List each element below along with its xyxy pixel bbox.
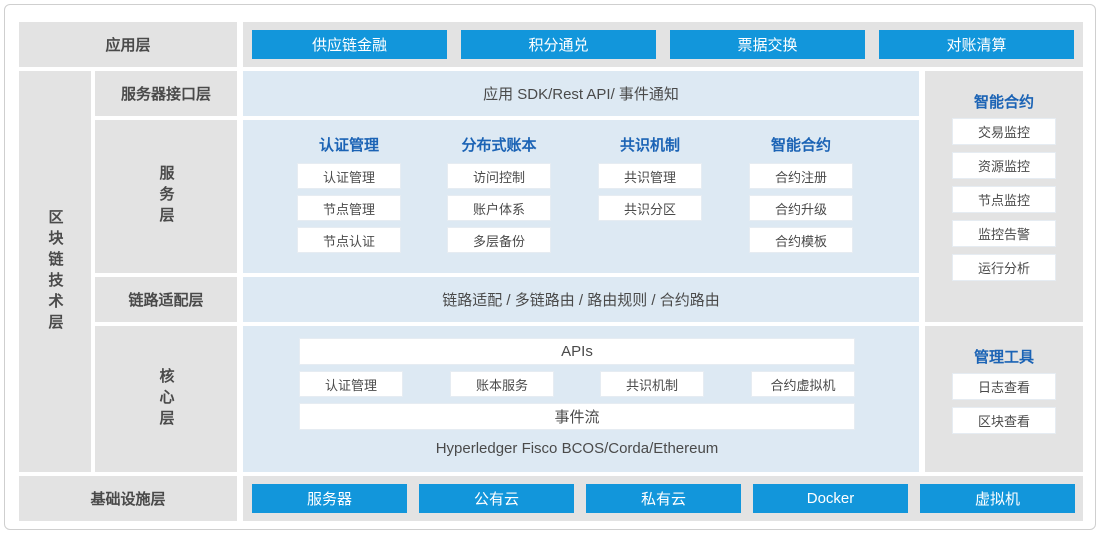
app-item-0-label: 供应链金融 xyxy=(312,34,387,55)
infra-item-3[interactable]: Docker xyxy=(753,484,908,513)
service-col-1-item-1[interactable]: 账户体系 xyxy=(447,195,551,221)
infrastructure-layer-label: 基础设施层 xyxy=(19,476,237,521)
service-col-0-title: 认证管理 xyxy=(287,134,411,155)
application-layer-band: 供应链金融 积分通兑 票据交换 对账清算 xyxy=(243,22,1083,67)
core-engines: Hyperledger Fisco BCOS/Corda/Ethereum xyxy=(299,434,855,462)
app-item-1[interactable]: 积分通兑 xyxy=(461,30,656,59)
application-layer-label-text: 应用层 xyxy=(105,34,150,55)
app-item-1-label: 积分通兑 xyxy=(528,34,588,55)
side-panel-0-item-4[interactable]: 运行分析 xyxy=(952,254,1056,281)
infra-item-4[interactable]: 虚拟机 xyxy=(920,484,1075,513)
service-col-3-item-1[interactable]: 合约升级 xyxy=(749,195,853,221)
core-layer-label: 核心层 xyxy=(95,326,237,472)
app-item-3-label: 对账清算 xyxy=(946,34,1006,55)
service-col-1-item-0[interactable]: 访问控制 xyxy=(447,163,551,189)
link-adapter-layer-content-text: 链路适配 / 多链路由 / 路由规则 / 合约路由 xyxy=(442,289,720,310)
infra-item-1[interactable]: 公有云 xyxy=(419,484,574,513)
service-col-0-item-2[interactable]: 节点认证 xyxy=(297,227,401,253)
core-module-0[interactable]: 认证管理 xyxy=(299,371,403,397)
side-panel-1-item-1[interactable]: 区块查看 xyxy=(952,407,1056,434)
side-panel-0-item-3[interactable]: 监控告警 xyxy=(952,220,1056,247)
app-item-2[interactable]: 票据交换 xyxy=(670,30,865,59)
infra-item-3-label: Docker xyxy=(807,490,855,507)
link-adapter-layer-label-text: 链路适配层 xyxy=(128,289,203,310)
core-module-3[interactable]: 合约虚拟机 xyxy=(751,371,855,397)
core-apis-label: APIs xyxy=(561,343,593,360)
service-col-2-title: 共识机制 xyxy=(588,134,712,155)
architecture-diagram: 应用层 供应链金融 积分通兑 票据交换 对账清算 区块链技术层 服务器接口层 应… xyxy=(4,4,1096,530)
infra-item-1-label: 公有云 xyxy=(474,488,519,509)
blockchain-tech-layer-label: 区块链技术层 xyxy=(19,71,91,472)
service-col-3-title: 智能合约 xyxy=(739,134,863,155)
core-layer-content: APIs 认证管理 账本服务 共识机制 合约虚拟机 事件流 Hyperledge… xyxy=(243,326,919,472)
service-col-1-item-2[interactable]: 多层备份 xyxy=(447,227,551,253)
service-col-3-item-0[interactable]: 合约注册 xyxy=(749,163,853,189)
core-engines-text: Hyperledger Fisco BCOS/Corda/Ethereum xyxy=(436,440,719,457)
blockchain-tech-layer-label-text: 区块链技术层 xyxy=(45,209,66,335)
service-col-2-item-1[interactable]: 共识分区 xyxy=(598,195,702,221)
infra-item-0-label: 服务器 xyxy=(307,488,352,509)
link-adapter-layer-label: 链路适配层 xyxy=(95,277,237,322)
infra-item-2[interactable]: 私有云 xyxy=(586,484,741,513)
core-apis-bar[interactable]: APIs xyxy=(299,338,855,365)
server-interface-layer-content: 应用 SDK/Rest API/ 事件通知 xyxy=(243,71,919,116)
side-panel-management-tools: 管理工具 日志查看 区块查看 xyxy=(925,326,1083,472)
service-col-1-title: 分布式账本 xyxy=(437,134,561,155)
app-item-3[interactable]: 对账清算 xyxy=(879,30,1074,59)
core-event-stream-bar[interactable]: 事件流 xyxy=(299,403,855,430)
side-panel-0-item-0[interactable]: 交易监控 xyxy=(952,118,1056,145)
server-interface-layer-label-text: 服务器接口层 xyxy=(121,83,211,104)
core-module-2[interactable]: 共识机制 xyxy=(600,371,704,397)
service-col-0-item-0[interactable]: 认证管理 xyxy=(297,163,401,189)
app-item-0[interactable]: 供应链金融 xyxy=(252,30,447,59)
service-col-2-item-0[interactable]: 共识管理 xyxy=(598,163,702,189)
server-interface-layer-content-text: 应用 SDK/Rest API/ 事件通知 xyxy=(483,83,679,104)
core-layer-label-text: 核心层 xyxy=(156,368,177,431)
infrastructure-layer-label-text: 基础设施层 xyxy=(90,488,165,509)
server-interface-layer-label: 服务器接口层 xyxy=(95,71,237,116)
side-panel-smart-contract: 智能合约 交易监控 资源监控 节点监控 监控告警 运行分析 xyxy=(925,71,1083,322)
app-item-2-label: 票据交换 xyxy=(737,34,797,55)
service-col-0-item-1[interactable]: 节点管理 xyxy=(297,195,401,221)
core-event-stream-label: 事件流 xyxy=(554,406,599,427)
service-col-3-item-2[interactable]: 合约模板 xyxy=(749,227,853,253)
side-panel-0-item-2[interactable]: 节点监控 xyxy=(952,186,1056,213)
core-module-1[interactable]: 账本服务 xyxy=(450,371,554,397)
side-panel-0-item-1[interactable]: 资源监控 xyxy=(952,152,1056,179)
infra-item-4-label: 虚拟机 xyxy=(975,488,1020,509)
service-layer-content: 认证管理 认证管理 节点管理 节点认证 分布式账本 访问控制 账户体系 多层备份… xyxy=(243,120,919,273)
side-panel-1-item-0[interactable]: 日志查看 xyxy=(952,373,1056,400)
link-adapter-layer-content: 链路适配 / 多链路由 / 路由规则 / 合约路由 xyxy=(243,277,919,322)
side-panel-1-title: 管理工具 xyxy=(925,346,1083,367)
infra-item-2-label: 私有云 xyxy=(641,488,686,509)
infrastructure-layer-band: 服务器 公有云 私有云 Docker 虚拟机 xyxy=(243,476,1083,521)
side-panel-0-title: 智能合约 xyxy=(925,91,1083,112)
infra-item-0[interactable]: 服务器 xyxy=(252,484,407,513)
service-layer-label-text: 服务层 xyxy=(156,165,177,228)
application-layer-label: 应用层 xyxy=(19,22,237,67)
service-layer-label: 服务层 xyxy=(95,120,237,273)
